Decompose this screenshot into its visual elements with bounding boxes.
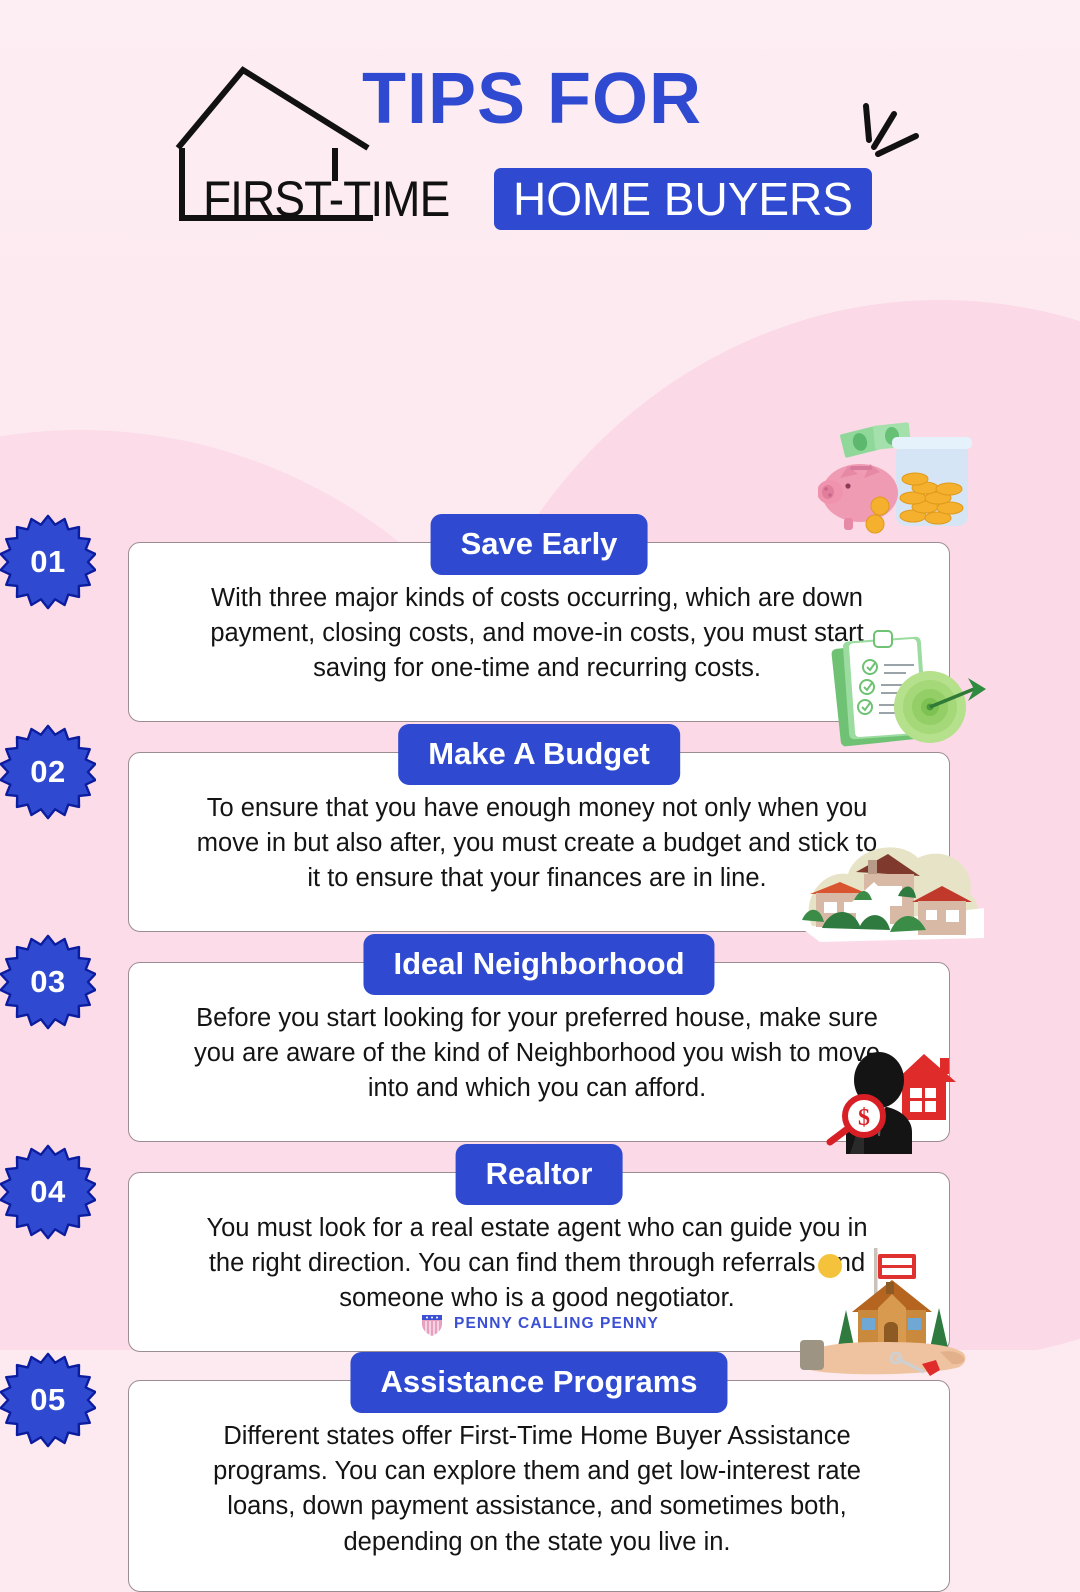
step-badge-05: 05 — [0, 1352, 96, 1448]
title-line-1: TIPS FOR — [362, 58, 702, 140]
step-badge-02: 02 — [0, 724, 96, 820]
step-heading-02[interactable]: Make A Budget — [398, 724, 680, 785]
step-number-05: 05 — [0, 1352, 96, 1448]
step-badge-04: 04 — [0, 1144, 96, 1240]
step-heading-03[interactable]: Ideal Neighborhood — [363, 934, 714, 995]
step-heading-01[interactable]: Save Early — [431, 514, 648, 575]
step-number-01: 01 — [0, 514, 96, 610]
step-badge-03: 03 — [0, 934, 96, 1030]
penny-shield-logo-icon — [421, 1312, 443, 1336]
step-badge-01: 01 — [0, 514, 96, 610]
step-body-02: To ensure that you have enough money not… — [187, 791, 887, 897]
step-body-01: With three major kinds of costs occurrin… — [187, 581, 887, 687]
footer: PENNY CALLING PENNY — [0, 1312, 1080, 1336]
sparkle-lines-icon — [852, 100, 932, 170]
step-number-03: 03 — [0, 934, 96, 1030]
step-body-04: You must look for a real estate agent wh… — [187, 1211, 887, 1317]
title-home-buyers-badge: HOME BUYERS — [494, 168, 872, 230]
step-number-02: 02 — [0, 724, 96, 820]
header: TIPS FOR FIRST-TIME HOME BUYERS — [0, 0, 1080, 250]
step-heading-04[interactable]: Realtor — [456, 1144, 623, 1205]
step-number-04: 04 — [0, 1144, 96, 1240]
title-first-time: FIRST-TIME — [203, 170, 449, 228]
step-body-03: Before you start looking for your prefer… — [187, 1001, 887, 1107]
step-heading-05[interactable]: Assistance Programs — [350, 1352, 727, 1413]
step-body-05: Different states offer First-Time Home B… — [187, 1419, 887, 1560]
footer-brand: PENNY CALLING PENNY — [454, 1315, 659, 1333]
